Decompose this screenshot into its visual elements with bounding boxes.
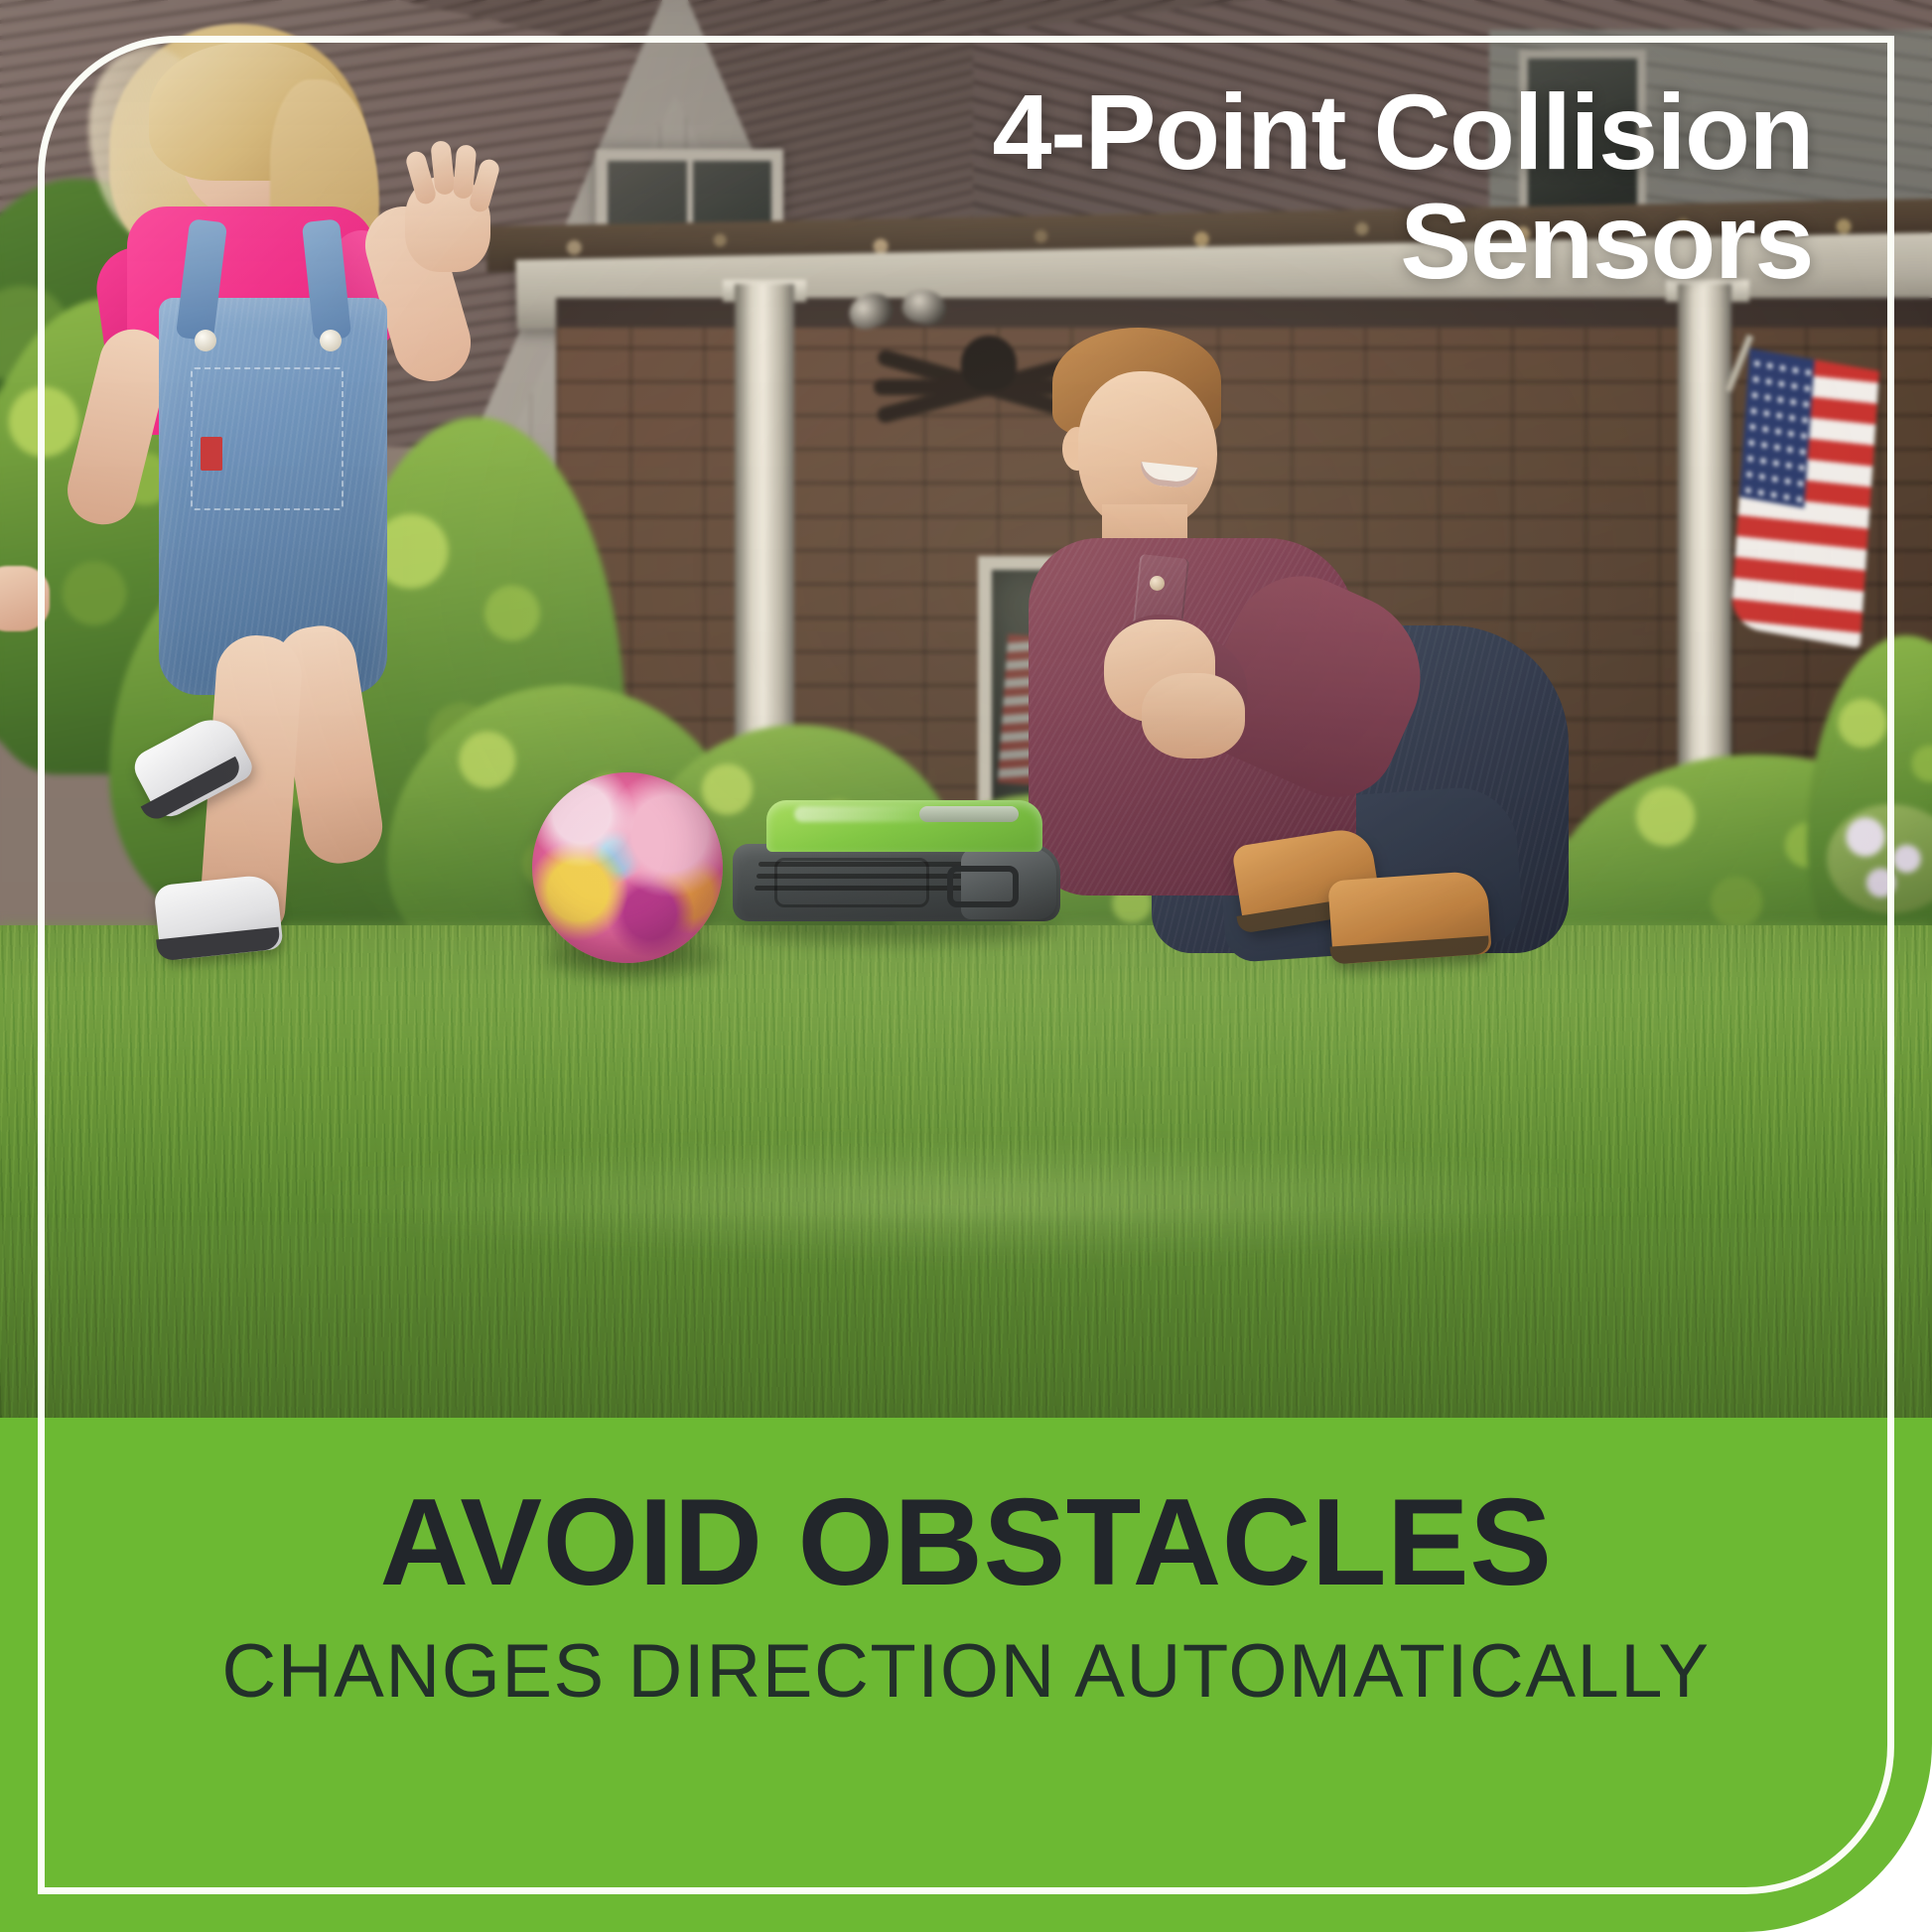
mower-brand-badge [919, 806, 1019, 822]
mower-carry-handle [947, 866, 1019, 907]
playground-ball [532, 772, 723, 963]
marketing-card: 4-Point Collision Sensors AVOID OBSTACLE… [0, 0, 1932, 1932]
hero-photo: 4-Point Collision Sensors [0, 0, 1932, 1422]
robot-mower [723, 800, 1068, 929]
headline-line-1: 4-Point Collision [641, 77, 1813, 187]
american-flag-icon [1730, 348, 1879, 648]
caption-banner: AVOID OBSTACLES CHANGES DIRECTION AUTOMA… [0, 1418, 1932, 1932]
overalls-brand-tag [201, 437, 222, 471]
overalls-buckle [195, 330, 216, 351]
lawn-near-blur [0, 1221, 1932, 1422]
banner-title: AVOID OBSTACLES [0, 1481, 1932, 1604]
shirt-button [1150, 576, 1165, 591]
girl-figure [10, 10, 526, 993]
headline: 4-Point Collision Sensors [641, 77, 1813, 296]
headline-line-2: Sensors [641, 187, 1813, 296]
man-figure [993, 328, 1549, 983]
man-hand-lower [1142, 673, 1245, 759]
banner-subtitle: CHANGES DIRECTION AUTOMATICALLY [0, 1634, 1932, 1710]
overalls-buckle [320, 330, 342, 351]
